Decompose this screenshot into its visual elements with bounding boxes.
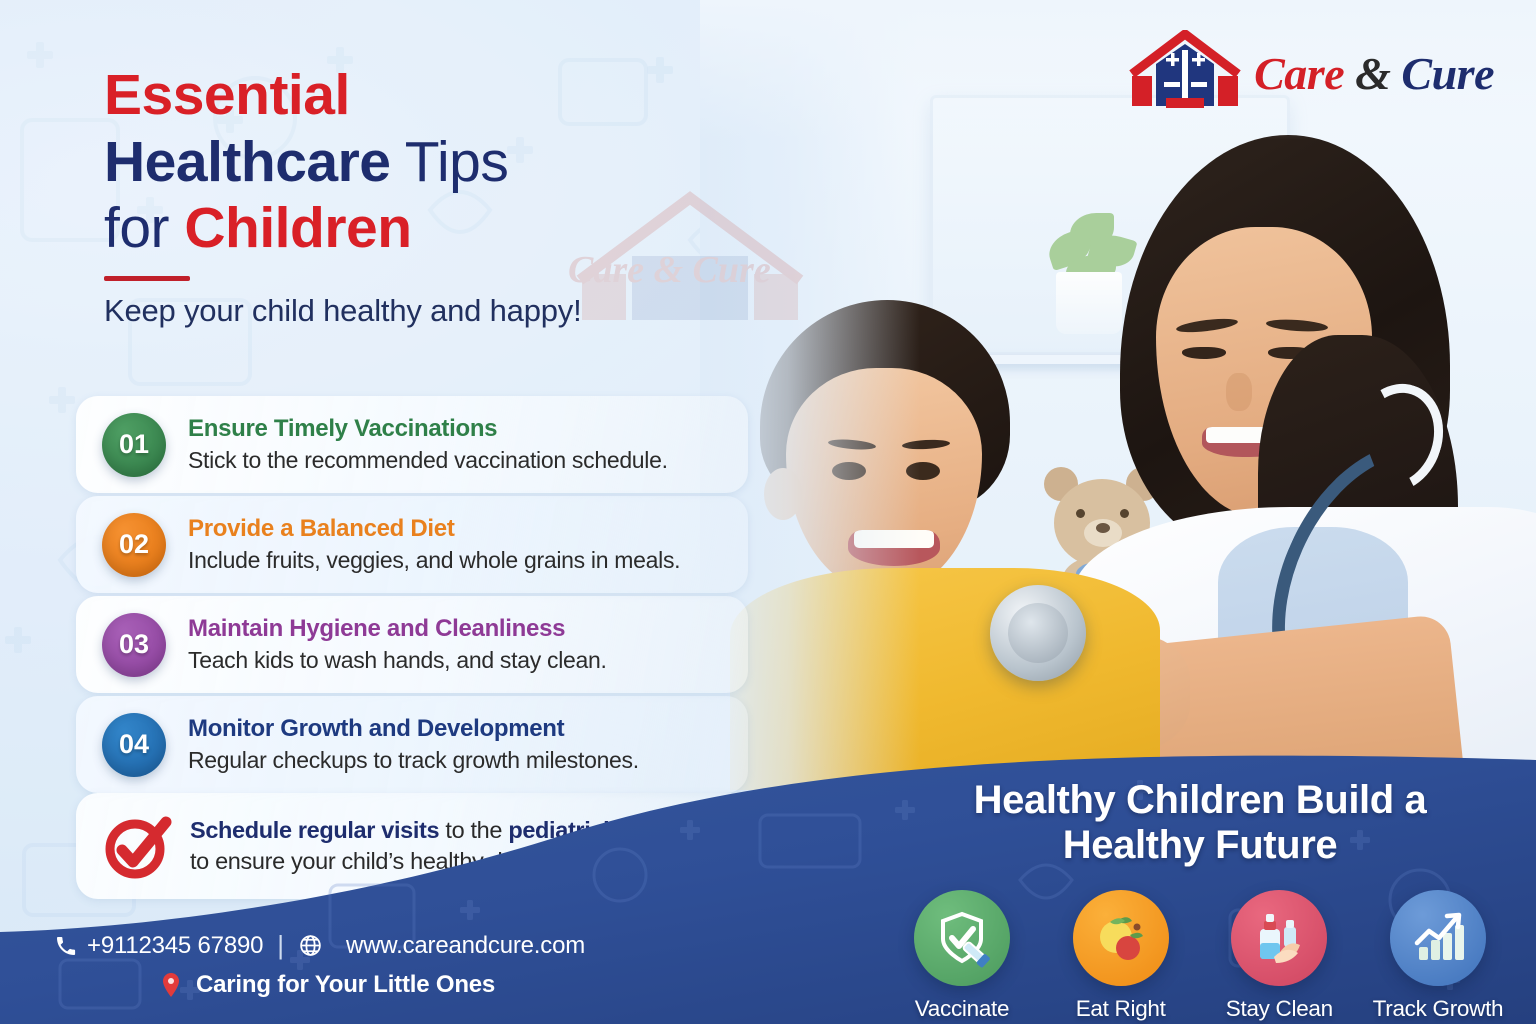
blue-title-line-1: Healthy Children Build a [880, 778, 1520, 823]
headline-line-3: for Children [104, 199, 744, 258]
footer-contact: +9112345 67890 | www.careandcure.com Car… [0, 930, 700, 999]
tip-description: Include fruits, veggies, and whole grain… [188, 547, 734, 575]
tip-title: Maintain Hygiene and Cleanliness [188, 615, 734, 644]
globe-icon [298, 933, 323, 958]
tip-number-badge: 02 [102, 513, 166, 577]
growth-chart-icon [1407, 907, 1469, 969]
headline-healthcare: Healthcare [104, 130, 391, 194]
benefit-track-growth[interactable]: Track Growth [1364, 890, 1512, 1022]
benefit-stay-clean[interactable]: Stay Clean [1205, 890, 1353, 1022]
vaccinate-icon-circle [914, 890, 1010, 986]
phone-number[interactable]: +9112345 67890 [87, 932, 263, 960]
tip-description: Stick to the recommended vaccination sch… [188, 447, 734, 475]
eat-right-icon-circle [1073, 890, 1169, 986]
stay-clean-icon-circle [1231, 890, 1327, 986]
blue-title-line-2: Healthy Future [880, 823, 1520, 868]
tip-item-01[interactable]: 01 Ensure Timely Vaccinations Stick to t… [76, 396, 748, 493]
footer-separator: | [277, 930, 284, 961]
benefit-label: Vaccinate [888, 996, 1036, 1022]
brand-logo[interactable]: Care & Cure [1126, 30, 1494, 116]
phone-icon [54, 934, 78, 958]
brand-name-amp: & [1344, 48, 1401, 99]
location-pin-icon [160, 972, 182, 998]
title-divider [104, 276, 190, 281]
headline-line-2: Healthcare Tips [104, 133, 744, 192]
fruits-icon [1090, 907, 1152, 969]
tip-title: Ensure Timely Vaccinations [188, 415, 734, 444]
house-medical-logo-icon [1126, 30, 1244, 116]
tip-title: Provide a Balanced Diet [188, 515, 734, 544]
shield-check-syringe-icon [931, 907, 993, 969]
headline-for: for [104, 196, 184, 260]
brand-name-cure: Cure [1401, 48, 1494, 99]
benefit-eat-right[interactable]: Eat Right [1047, 890, 1195, 1022]
benefit-label: Stay Clean [1205, 996, 1353, 1022]
page-title: Essential Healthcare Tips for Children K… [104, 66, 744, 329]
handwash-soap-icon [1248, 907, 1310, 969]
infographic-poster: Care & Cure Care & Cure Essential Health… [0, 0, 1536, 1024]
blue-panel-title: Healthy Children Build a Healthy Future [880, 778, 1520, 868]
tip-number-badge: 01 [102, 413, 166, 477]
track-growth-icon-circle [1390, 890, 1486, 986]
brand-logo-text: Care & Cure [1254, 47, 1494, 100]
benefit-label: Eat Right [1047, 996, 1195, 1022]
brand-name-care: Care [1254, 48, 1344, 99]
blue-panel-content: Healthy Children Build a Healthy Future … [880, 778, 1520, 1022]
benefit-icon-row: Vaccinate Eat Right [880, 890, 1520, 1022]
headline-children: Children [184, 196, 411, 260]
benefit-label: Track Growth [1364, 996, 1512, 1022]
website-url[interactable]: www.careandcure.com [346, 932, 585, 960]
headline-line-1: Essential [104, 66, 744, 125]
tip-item-02[interactable]: 02 Provide a Balanced Diet Include fruit… [76, 496, 748, 593]
subtitle: Keep your child healthy and happy! [104, 293, 744, 329]
headline-tips: Tips [391, 130, 509, 194]
footer-tagline: Caring for Your Little Ones [196, 971, 495, 999]
benefit-vaccinate[interactable]: Vaccinate [888, 890, 1036, 1022]
